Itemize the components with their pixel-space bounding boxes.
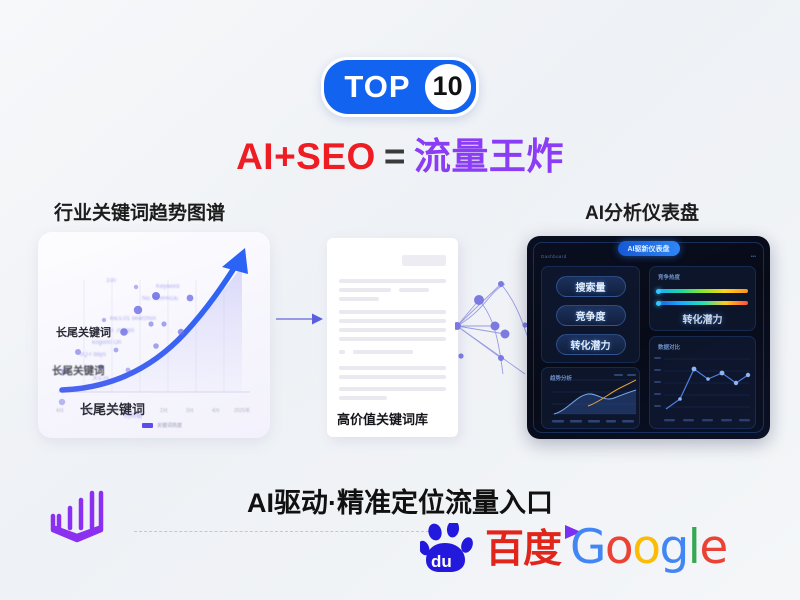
gauge-bar-heat	[658, 289, 748, 293]
section-label-trend: 行业关键词趋势图谱	[54, 198, 225, 225]
svg-text:du: du	[431, 552, 452, 571]
line-panel-title: 数据对比	[658, 343, 680, 351]
gauge-bar-potential	[658, 301, 748, 305]
google-letter-4: l	[688, 520, 700, 575]
google-logo[interactable]: Google	[570, 524, 727, 571]
legend-label: 关键词热度	[157, 422, 182, 429]
x-tick-2: 12月	[108, 407, 119, 414]
top-badge[interactable]: TOP 10	[321, 57, 478, 117]
trend-analysis-panel: 趋势分析	[541, 367, 640, 429]
dashboard-subtitle: Dashboard	[541, 254, 567, 259]
chart-legend: 关键词热度	[142, 422, 182, 429]
title-part-aiseo: AI+SEO	[236, 136, 376, 177]
top-badge-label: TOP	[344, 71, 424, 104]
competition-heat-panel: 竞争热度 转化潜力	[649, 266, 756, 331]
bottom-tagline: AI驱动·精准定位流量入口	[0, 481, 800, 520]
x-tick-5: 3月	[186, 407, 194, 414]
section-label-dashboard: AI分析仪表盘	[585, 198, 699, 225]
flow-arrow-icon	[276, 312, 324, 326]
trend-chart-card[interactable]: Keyword No. simPAGE kw,s,01 searchsn 0,A…	[38, 232, 270, 438]
keyword-library-document[interactable]: 高价值关键词库	[327, 238, 458, 437]
google-letter-5: e	[699, 520, 726, 575]
baidu-paw-icon: du	[420, 523, 482, 575]
google-letter-3: g	[659, 520, 687, 575]
x-tick-6: 4月	[212, 407, 220, 414]
metric-pill-competition[interactable]: 竞争度	[556, 305, 626, 326]
title-part-traffic: 流量王炸	[414, 136, 564, 177]
keyword-label-1: 长尾关键词	[56, 324, 111, 340]
top-badge-number: 10	[425, 64, 471, 110]
metric-pill-conversion[interactable]: 转化潜力	[556, 334, 626, 355]
legend-swatch-icon	[142, 423, 153, 428]
google-letter-1: o	[605, 520, 632, 575]
keyword-label-2: 长尾关键词	[52, 363, 105, 378]
bar-chart-icon	[46, 486, 108, 544]
connector-dashed-line	[134, 531, 434, 532]
google-letter-0: G	[570, 520, 605, 575]
metrics-panel: 搜索量 竞争度 转化潜力	[541, 266, 640, 363]
top-badge-container: TOP 10	[0, 57, 800, 117]
network-graph-icon	[455, 270, 531, 382]
dashboard-title-badge: AI驱新仪表盘	[618, 241, 680, 256]
data-comparison-panel: 数据对比	[649, 336, 756, 429]
gauge-dot-potential	[656, 301, 661, 306]
baidu-label: 百度	[485, 530, 561, 569]
google-letter-2: o	[632, 520, 659, 575]
x-tick-7: 2025年	[234, 407, 250, 414]
x-tick-4: 2月	[160, 407, 168, 414]
gauge-dot-heat	[656, 289, 661, 294]
title-equals: =	[376, 136, 414, 177]
page-title: AI+SEO=流量王炸	[0, 126, 800, 180]
baidu-logo[interactable]: du 百度	[420, 523, 561, 575]
gauge-overlay-label: 转化潜力	[683, 311, 723, 326]
dashboard-menu-icon[interactable]: •••	[751, 254, 756, 260]
doc-header-chip-icon	[402, 255, 446, 266]
x-axis-label: 时间轴	[124, 411, 142, 420]
top-badge-pill: TOP 10	[324, 60, 475, 114]
document-title: 高价值关键词库	[337, 409, 428, 428]
ai-dashboard-card[interactable]: AI驱新仪表盘 Dashboard ••• 搜索量 竞争度 转化潜力	[527, 236, 770, 439]
x-tick-0: 4月	[56, 407, 64, 414]
metric-pill-search-volume[interactable]: 搜索量	[556, 276, 626, 297]
x-tick-1: 11月	[82, 407, 92, 414]
gauge-panel-title: 竞争热度	[658, 273, 680, 281]
area-panel-title: 趋势分析	[550, 374, 572, 382]
